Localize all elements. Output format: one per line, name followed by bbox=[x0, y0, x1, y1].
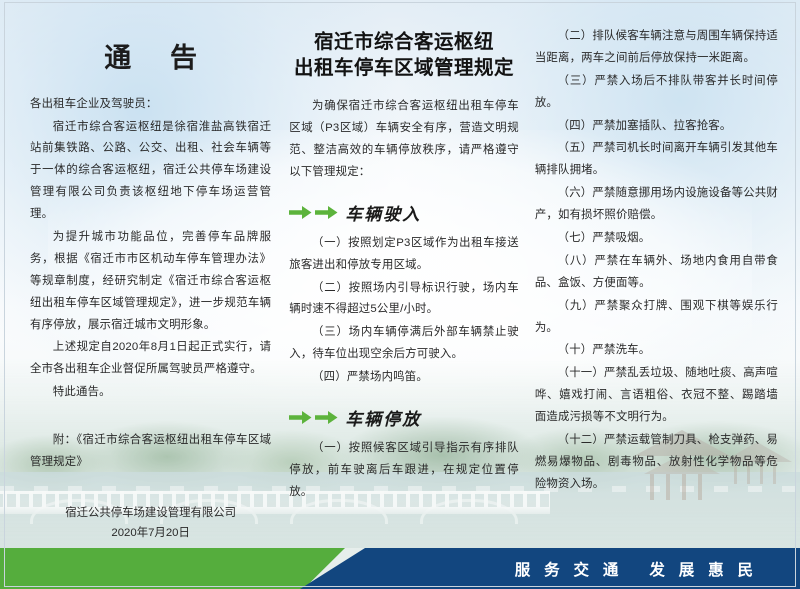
arrow-right-icon bbox=[315, 410, 338, 425]
entry-item-3: （三）场内车辆停满后外部车辆禁止驶入，待车位出现空余后方可驶入。 bbox=[289, 322, 519, 366]
notice-paragraph-4: 特此通告。 bbox=[30, 382, 271, 404]
entry-item-1: （一）按照划定P3区域作为出租车接送旅客进出和停放专用区域。 bbox=[289, 233, 519, 277]
notice-date: 2020年7月20日 bbox=[30, 524, 271, 544]
notice-attachment: 附：《宿迁市综合客运枢纽出租车停车区域管理规定》 bbox=[30, 430, 271, 474]
section-heading-vehicle-parking: 车辆停放 bbox=[289, 405, 519, 430]
poster-content: 通 告 各出租车企业及驾驶员： 宿迁市综合客运枢纽是徐宿淮盐高铁宿迁站前集铁路、… bbox=[0, 0, 800, 589]
notice-paragraph-3: 上述规定自2020年8月1日起正式实行，请全市各出租车企业督促所属驾驶员严格遵守… bbox=[30, 337, 271, 381]
notice-paragraph-1: 宿迁市综合客运枢纽是徐宿淮盐高铁宿迁站前集铁路、公路、公交、出租、社会车辆等于一… bbox=[30, 117, 271, 226]
section-heading-vehicle-entry: 车辆驶入 bbox=[289, 200, 519, 225]
footer-green-band bbox=[0, 548, 345, 589]
footer-slogan: 服 务 交 通 发 展 惠 民 bbox=[515, 548, 758, 589]
notice-paragraph-2: 为提升城市功能品位，完善停车品牌服务，根据《宿迁市市区机动车停车管理办法》等规章… bbox=[30, 227, 271, 336]
parking-item-6: （六）严禁随意挪用场内设施设备等公共财产，如有损坏照价赔偿。 bbox=[535, 183, 778, 227]
parking-item-12: （十二）严禁运载管制刀具、枪支弹药、易燃易爆物品、剧毒物品、放射性化学物品等危险… bbox=[535, 430, 778, 496]
entry-item-2: （二）按照场内引导标识行驶，场内车辆时速不得超过5公里/小时。 bbox=[289, 278, 519, 322]
section-label-vehicle-parking: 车辆停放 bbox=[345, 405, 421, 430]
footer-bar: 服 务 交 通 发 展 惠 民 bbox=[0, 548, 800, 589]
parking-item-5: （五）严禁司机长时间离开车辆引发其他车辆排队拥堵。 bbox=[535, 138, 778, 182]
column-regulation-continued: （二）排队候客车辆注意与周围车辆保持适当距离，两车之间前后停放保持一米距离。 （… bbox=[535, 26, 778, 529]
parking-item-11: （十一）严禁乱丢垃圾、随地吐痰、高声喧哗、嬉戏打闹、言语粗俗、衣冠不整、踢踏墙面… bbox=[535, 363, 778, 429]
footer-slogan-right: 发 展 惠 民 bbox=[649, 558, 758, 580]
poster-root: 通 告 各出租车企业及驾驶员： 宿迁市综合客运枢纽是徐宿淮盐高铁宿迁站前集铁路、… bbox=[0, 0, 800, 589]
section-label-vehicle-entry: 车辆驶入 bbox=[345, 200, 421, 225]
parking-item-3: （三）严禁入场后不排队带客并长时间停放。 bbox=[535, 71, 778, 115]
footer-slogan-left: 服 务 交 通 bbox=[515, 558, 624, 580]
arrow-right-icon bbox=[289, 410, 312, 425]
parking-item-4: （四）严禁加塞插队、拉客抢客。 bbox=[535, 116, 778, 138]
regulation-title: 宿迁市综合客运枢纽 出租车停车区域管理规定 bbox=[289, 30, 519, 82]
parking-item-7: （七）严禁吸烟。 bbox=[535, 228, 778, 250]
notice-title: 通 告 bbox=[30, 44, 271, 74]
regulation-preamble: 为确保宿迁市综合客运枢纽出租车停车区域（P3区域）车辆安全有序，营造文明规范、整… bbox=[289, 96, 519, 184]
notice-issuer: 宿迁公共停车场建设管理有限公司 bbox=[30, 504, 271, 524]
parking-item-9: （九）严禁聚众打牌、围观下棋等娱乐行为。 bbox=[535, 296, 778, 340]
column-notice: 通 告 各出租车企业及驾驶员： 宿迁市综合客运枢纽是徐宿淮盐高铁宿迁站前集铁路、… bbox=[30, 26, 289, 529]
double-arrow-icon-group bbox=[289, 410, 338, 425]
regulation-title-line-2: 出租车停车区域管理规定 bbox=[289, 56, 519, 82]
arrow-right-icon bbox=[315, 205, 338, 220]
parking-item-2: （二）排队候客车辆注意与周围车辆保持适当距离，两车之间前后停放保持一米距离。 bbox=[535, 26, 778, 70]
entry-item-4: （四）严禁场内鸣笛。 bbox=[289, 367, 519, 389]
parking-item-1: （一）按照候客区域引导指示有序排队停放，前车驶离后车跟进，在规定位置停放。 bbox=[289, 438, 519, 504]
column-regulation: 宿迁市综合客运枢纽 出租车停车区域管理规定 为确保宿迁市综合客运枢纽出租车停车区… bbox=[289, 26, 535, 529]
arrow-right-icon bbox=[289, 205, 312, 220]
parking-item-10: （十）严禁洗车。 bbox=[535, 340, 778, 362]
notice-salutation: 各出租车企业及驾驶员： bbox=[30, 94, 271, 116]
regulation-title-line-1: 宿迁市综合客运枢纽 bbox=[289, 30, 519, 56]
parking-item-8: （八）严禁在车辆外、场地内食用自带食品、盒饭、方便面等。 bbox=[535, 251, 778, 295]
double-arrow-icon-group bbox=[289, 205, 338, 220]
notice-signature: 宿迁公共停车场建设管理有限公司 2020年7月20日 bbox=[30, 504, 271, 544]
